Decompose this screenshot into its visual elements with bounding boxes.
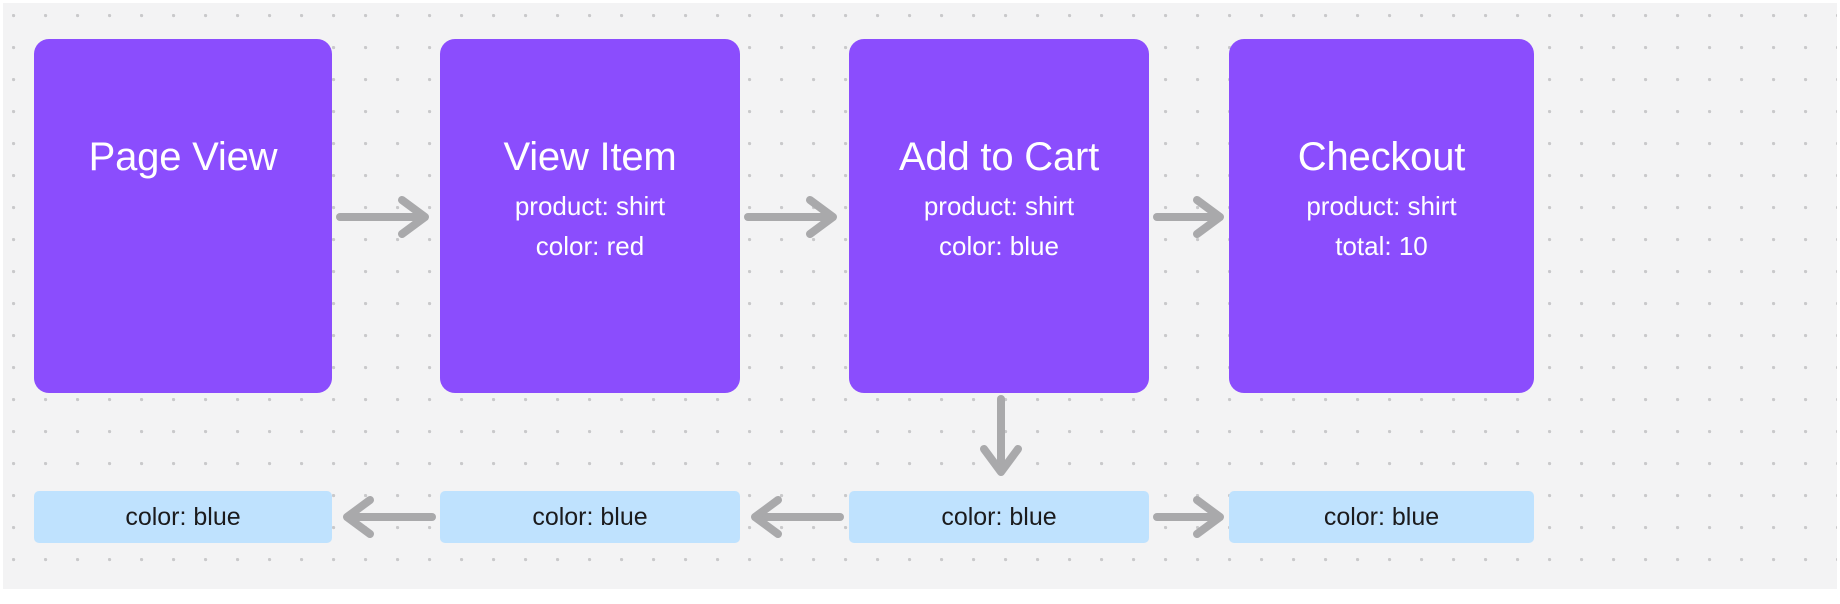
arrow-prop-box-2-to-prop-box-1 — [336, 495, 436, 539]
property-box-label: color: blue — [532, 505, 647, 530]
arrow-page-view-to-view-item — [336, 195, 436, 239]
event-node-title: View Item — [503, 135, 676, 180]
arrow-add-to-cart-to-checkout — [1153, 195, 1231, 239]
event-node-title: Page View — [89, 135, 278, 180]
event-node-add-to-cart[interactable]: Add to Cart product: shirt color: blue — [849, 39, 1149, 393]
property-box-2[interactable]: color: blue — [440, 491, 740, 543]
event-property: color: red — [536, 226, 644, 266]
event-property: color: blue — [939, 226, 1059, 266]
arrow-prop-box-3-to-prop-box-4 — [1153, 495, 1231, 539]
event-node-properties: product: shirt color: blue — [924, 186, 1074, 267]
diagram-canvas[interactable]: Page View View Item product: shirt color… — [3, 3, 1837, 589]
property-box-1[interactable]: color: blue — [34, 491, 332, 543]
event-node-title: Add to Cart — [899, 135, 1099, 180]
event-property: total: 10 — [1335, 226, 1428, 266]
arrow-add-to-cart-to-prop-box-3 — [971, 395, 1031, 485]
property-box-label: color: blue — [125, 505, 240, 530]
property-box-4[interactable]: color: blue — [1229, 491, 1534, 543]
property-box-label: color: blue — [941, 505, 1056, 530]
event-node-properties: product: shirt total: 10 — [1306, 186, 1456, 267]
event-node-checkout[interactable]: Checkout product: shirt total: 10 — [1229, 39, 1534, 393]
event-property: product: shirt — [924, 186, 1074, 226]
event-node-page-view[interactable]: Page View — [34, 39, 332, 393]
arrow-view-item-to-add-to-cart — [744, 195, 844, 239]
diagram-stage: Page View View Item product: shirt color… — [0, 0, 1840, 604]
event-node-view-item[interactable]: View Item product: shirt color: red — [440, 39, 740, 393]
arrow-prop-box-3-to-prop-box-2 — [744, 495, 844, 539]
property-box-3[interactable]: color: blue — [849, 491, 1149, 543]
event-property: product: shirt — [515, 186, 665, 226]
property-box-label: color: blue — [1324, 505, 1439, 530]
event-property: product: shirt — [1306, 186, 1456, 226]
event-node-title: Checkout — [1298, 135, 1465, 180]
event-node-properties: product: shirt color: red — [515, 186, 665, 267]
